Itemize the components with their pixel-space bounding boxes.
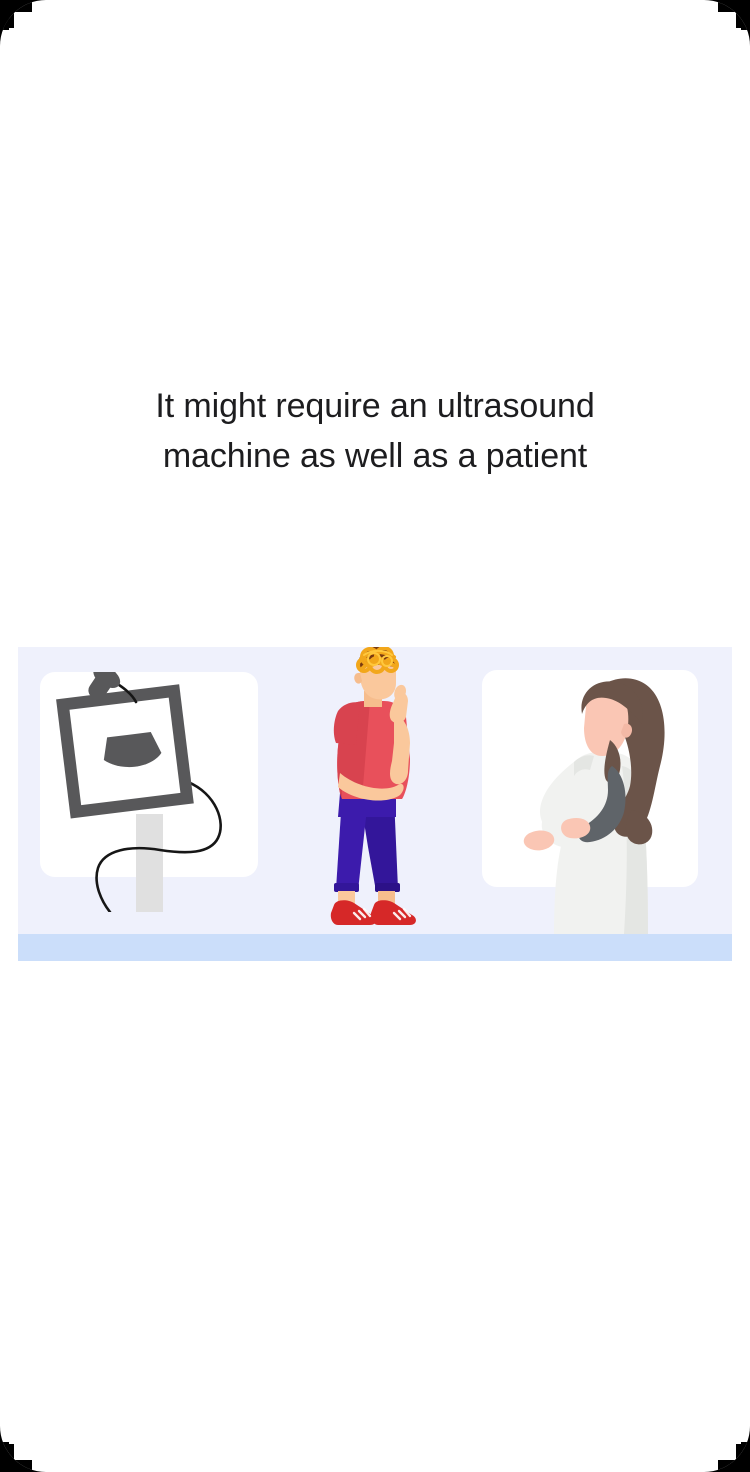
patient-hand-upper bbox=[561, 818, 590, 838]
thinking-person-illustration bbox=[298, 647, 458, 942]
illustration-band bbox=[18, 647, 732, 961]
patient-hand-lower bbox=[524, 831, 554, 851]
person-cuff-front bbox=[334, 883, 359, 892]
headline-line-2: machine as well as a patient bbox=[163, 437, 587, 475]
machine-stand bbox=[136, 814, 163, 912]
corner-marker-bottom-right bbox=[686, 1408, 750, 1472]
corner-marker-bottom-left bbox=[0, 1408, 64, 1472]
patient-hair-curl bbox=[626, 810, 652, 844]
app-screen: It might require an ultrasound machine a… bbox=[0, 0, 750, 1472]
pregnant-patient-illustration bbox=[482, 670, 698, 934]
ultrasound-machine-illustration bbox=[40, 672, 258, 912]
page-title: It might require an ultrasound machine a… bbox=[0, 381, 750, 481]
person-cuff-back bbox=[375, 883, 400, 892]
corner-marker-top-right bbox=[686, 0, 750, 64]
headline-line-1: It might require an ultrasound bbox=[155, 387, 594, 425]
person-sleeve-left bbox=[334, 702, 360, 745]
machine-monitor bbox=[56, 684, 194, 818]
corner-marker-top-left bbox=[0, 0, 64, 64]
